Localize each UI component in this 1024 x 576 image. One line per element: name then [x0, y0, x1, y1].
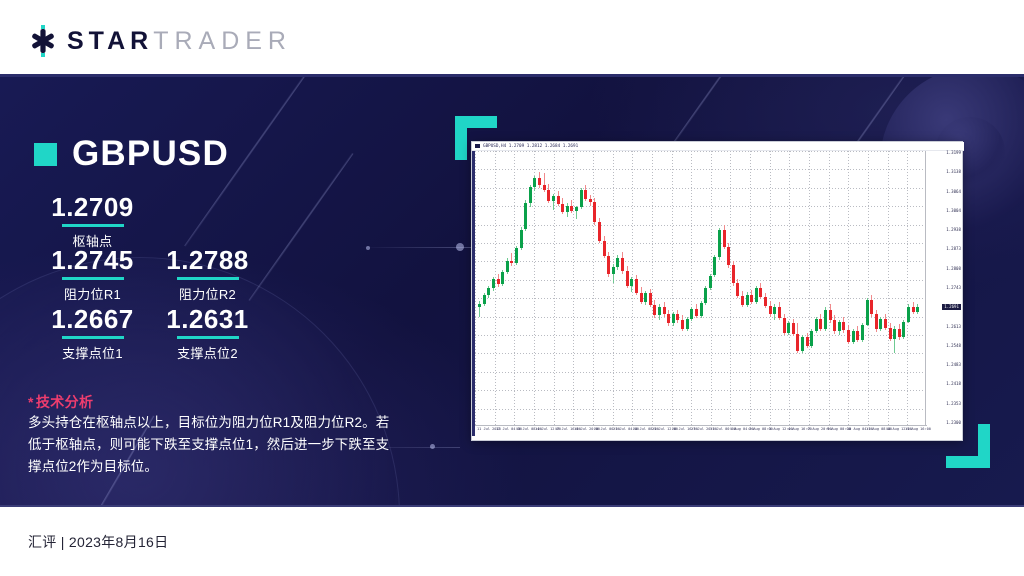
chart-candle-body [543, 185, 546, 190]
chart-candle-body [690, 309, 693, 319]
chart-plot-area[interactable] [475, 151, 927, 427]
chart-candle [907, 151, 910, 427]
chart-y-tick: 1.2548 [946, 344, 961, 348]
level-support2-underline [177, 336, 239, 339]
chart-candle-body [603, 241, 606, 256]
chart-candle [506, 151, 509, 427]
chart-candle-body [515, 248, 518, 263]
chart-candle [492, 151, 495, 427]
chart-candle [829, 151, 832, 427]
chart-candle-body [704, 288, 707, 303]
level-support2: 1.2631 支撑点位2 [140, 306, 275, 362]
chart-y-tick: 1.2938 [946, 228, 961, 232]
chart-candle-body [570, 206, 573, 212]
chart-candle [621, 151, 624, 427]
chart-candle-body [875, 314, 878, 329]
chart-candle [593, 151, 596, 427]
chart-candle-body [501, 272, 504, 284]
level-support1-underline [62, 336, 124, 339]
chart-candle [538, 151, 541, 427]
chart-candle [584, 151, 587, 427]
chart-candle [478, 151, 481, 427]
chart-candle-body [810, 331, 813, 346]
chart-candle-body [492, 279, 495, 289]
chart-candle-body [497, 279, 500, 284]
chart-candle [893, 151, 896, 427]
chart-candle-body [861, 325, 864, 340]
chart-candle [520, 151, 523, 427]
chart-candle-body [658, 307, 661, 316]
chart-candle-body [561, 204, 564, 212]
chart-candle-body [635, 279, 638, 292]
chart-candle-body [727, 247, 730, 265]
chart-candle-body [750, 295, 753, 302]
brand-wordmark: STAR TRADER [67, 27, 292, 56]
chart-y-tick: 1.2300 [946, 421, 961, 425]
chart-candle-body [902, 322, 905, 338]
chart-candle [695, 151, 698, 427]
chart-y-tick: 1.3138 [946, 170, 961, 174]
chart-x-tick: 15 Aug 16:00 [905, 428, 931, 432]
chart-candle [681, 151, 684, 427]
chart-candle-body [538, 178, 541, 185]
level-resistance2-label: 阻力位R2 [140, 284, 275, 303]
chart-candle [547, 151, 550, 427]
page-title: GBPUSD [72, 134, 229, 174]
chart-candle [723, 151, 726, 427]
chart-candle [529, 151, 532, 427]
level-support2-value: 1.2631 [140, 306, 275, 333]
chart-candle-body [769, 306, 772, 315]
chart-candle [746, 151, 749, 427]
chart-candle-body [607, 256, 610, 274]
chart-candle-body [649, 293, 652, 305]
footer-caption: 汇评 | 2023年8月16日 [28, 532, 168, 552]
chart-candle-body [870, 300, 873, 314]
page-header: STAR TRADER [0, 0, 1024, 76]
chart-candle [515, 151, 518, 427]
chart-candle-body [640, 293, 643, 302]
chart-candle [686, 151, 689, 427]
chart-candle-body [879, 319, 882, 329]
chart-candle-body [686, 319, 689, 329]
chart-candle [732, 151, 735, 427]
chart-candle [769, 151, 772, 427]
chart-candle-body [700, 303, 703, 316]
decor-dot-3 [430, 444, 435, 449]
chart-candle [792, 151, 795, 427]
chart-candle-body [824, 310, 827, 329]
analysis-heading: *技术分析 [28, 392, 93, 412]
chart-candle [838, 151, 841, 427]
chart-candle [741, 151, 744, 427]
chart-candle [787, 151, 790, 427]
chart-candle-body [778, 307, 781, 318]
chart-candle [713, 151, 716, 427]
chart-candle-body [663, 307, 666, 314]
chart-candle [801, 151, 804, 427]
chart-candle [852, 151, 855, 427]
chart-candle [635, 151, 638, 427]
chart-candle [575, 151, 578, 427]
chart-candle [842, 151, 845, 427]
chart-candle-body [856, 331, 859, 340]
chart-candle [497, 151, 500, 427]
chart-candle [566, 151, 569, 427]
chart-candle [690, 151, 693, 427]
chart-candle-body [907, 307, 910, 322]
chart-candle-body [621, 258, 624, 271]
chart-candle [607, 151, 610, 427]
chart-candle [589, 151, 592, 427]
chart-candle-wick [511, 253, 512, 265]
chart-candle [875, 151, 878, 427]
chart-candle [824, 151, 827, 427]
chart-candle-body [510, 261, 513, 263]
chart-candle [557, 151, 560, 427]
chart-candle-body [653, 305, 656, 315]
chart-candle-body [755, 288, 758, 302]
chart-candle [764, 151, 767, 427]
chart-candle [630, 151, 633, 427]
chart-candle-body [723, 230, 726, 247]
chart-candle-body [732, 265, 735, 283]
chart-candle [778, 151, 781, 427]
page-footer: 汇评 | 2023年8月16日 [0, 505, 1024, 576]
footer-divider [0, 505, 1024, 507]
chart-candle-body [718, 230, 721, 258]
chart-candle [796, 151, 799, 427]
chart-candle-body [483, 295, 486, 304]
chart-candle-body [529, 187, 532, 203]
chart-candle [750, 151, 753, 427]
chart-candle [884, 151, 887, 427]
chart-candle-body [815, 319, 818, 331]
chart-candle-body [759, 288, 762, 297]
chart-candle [612, 151, 615, 427]
chart-candle-body [833, 320, 836, 331]
chart-candle [861, 151, 864, 427]
chart-candle [524, 151, 527, 427]
chart-candle [533, 151, 536, 427]
chart-candle-body [547, 190, 550, 201]
chart-gridline-v [475, 151, 476, 427]
brand-logo[interactable]: STAR TRADER [28, 25, 292, 57]
chart-candle [879, 151, 882, 427]
chart-candle [603, 151, 606, 427]
chart-candle [819, 151, 822, 427]
chart-y-tick: 1.2808 [946, 267, 961, 271]
chart-candle [598, 151, 601, 427]
chart-candle-body [764, 297, 767, 306]
chart-candle [616, 151, 619, 427]
decor-dot-2 [366, 246, 370, 250]
chart-title: GBPUSD,H4 1.2709 1.2812 1.2684 1.2691 [483, 144, 578, 148]
chart-candle-body [829, 310, 832, 320]
level-support2-label: 支撑点位2 [140, 343, 275, 362]
chart-candle [510, 151, 513, 427]
chart-candle [889, 151, 892, 427]
chart-candle [580, 151, 583, 427]
level-resistance1-underline [62, 277, 124, 280]
chart-candle-body [580, 190, 583, 207]
chart-candle [736, 151, 739, 427]
chart-candle [810, 151, 813, 427]
brand-name-light: TRADER [153, 27, 292, 56]
chart-candle [847, 151, 850, 427]
chart-candle [626, 151, 629, 427]
chart-candle [718, 151, 721, 427]
chart-x-axis: 11 Jul 202312 Jul 04:0013 Jul 08:0014 Ju… [475, 425, 927, 440]
chart-y-tick: 1.2743 [946, 286, 961, 290]
chart-candle-body [796, 334, 799, 351]
chart-candle [552, 151, 555, 427]
chart-candle-body [889, 328, 892, 339]
chart-candle [663, 151, 666, 427]
chart-candle [806, 151, 809, 427]
level-resistance2-underline [177, 277, 239, 280]
chart-candle [644, 151, 647, 427]
analysis-asterisk: * [28, 394, 34, 410]
chart-y-tick: 1.3004 [946, 209, 961, 213]
chart-candle-body [847, 330, 850, 342]
chart-candle-body [787, 323, 790, 332]
chart-candle-body [644, 293, 647, 302]
chart-y-tick: 1.2418 [946, 382, 961, 386]
price-chart[interactable]: GBPUSD,H4 1.2709 1.2812 1.2684 1.2691 1.… [471, 141, 963, 441]
chart-candle [912, 151, 915, 427]
level-resistance2: 1.2788 阻力位R2 [140, 247, 275, 303]
chart-y-tick: 1.2873 [946, 247, 961, 251]
chart-candle-body [616, 258, 619, 267]
chart-candle-body [801, 337, 804, 350]
level-pivot: 1.2709 枢轴点 [25, 194, 160, 250]
chart-candle [561, 151, 564, 427]
chart-candle-body [912, 307, 915, 312]
chart-candle [570, 151, 573, 427]
chart-candle-body [524, 203, 527, 229]
pair-title-row: GBPUSD [34, 134, 229, 174]
chart-candle [653, 151, 656, 427]
title-marker-square [34, 143, 57, 166]
chart-candle-body [792, 323, 795, 333]
chart-candle [815, 151, 818, 427]
chart-y-axis: 1.31991.31381.30641.30041.29381.28731.28… [925, 151, 962, 436]
chart-candle-body [842, 322, 845, 330]
chart-y-tick: 1.3064 [946, 190, 961, 194]
brand-name-bold: STAR [67, 27, 153, 56]
chart-candle-body [593, 202, 596, 222]
chart-candle-body [626, 271, 629, 286]
chart-candle [704, 151, 707, 427]
decor-dot-1 [456, 243, 464, 251]
chart-candle [898, 151, 901, 427]
chart-y-tick: 1.2613 [946, 325, 961, 329]
chart-candle [902, 151, 905, 427]
chart-candle-body [819, 319, 822, 329]
chart-y-tick: 1.2353 [946, 402, 961, 406]
chart-candle [870, 151, 873, 427]
chart-candle-body [533, 178, 536, 187]
chart-candle [916, 151, 919, 427]
chart-candle [866, 151, 869, 427]
chart-candle-body [773, 307, 776, 314]
chart-y-tick: 1.2483 [946, 363, 961, 367]
chart-candle-body [866, 300, 869, 325]
chart-candle [543, 151, 546, 427]
analysis-body: 多头持仓在枢轴点以上，目标位为阻力位R1及阻力位R2。若低于枢轴点，则可能下跌至… [28, 412, 400, 478]
chart-candle [833, 151, 836, 427]
chart-candle [783, 151, 786, 427]
chart-candle-body [630, 279, 633, 286]
chart-candle-body [898, 329, 901, 338]
chart-candle-body [566, 206, 569, 212]
chart-candle [856, 151, 859, 427]
chart-candle-body [806, 337, 809, 346]
chart-candle-body [695, 309, 698, 316]
chart-candle [483, 151, 486, 427]
chart-candle [658, 151, 661, 427]
chart-titlebar: GBPUSD,H4 1.2709 1.2812 1.2684 1.2691 [472, 142, 964, 151]
chart-y-tick: 1.3199 [946, 151, 961, 155]
chart-candle-body [667, 314, 670, 323]
chart-candle [501, 151, 504, 427]
chart-candle-body [506, 261, 509, 273]
chart-candle-body [713, 257, 716, 275]
chart-candle-body [893, 329, 896, 339]
chart-candle-body [598, 222, 601, 240]
chart-candle [667, 151, 670, 427]
chart-candle [487, 151, 490, 427]
chart-candle [759, 151, 762, 427]
analysis-heading-text: 技术分析 [36, 394, 94, 410]
chart-candle-body [552, 196, 555, 200]
chart-candle [727, 151, 730, 427]
chart-candle-body [783, 318, 786, 333]
chart-candle-body [478, 304, 481, 308]
chart-candle-body [589, 199, 592, 201]
level-pivot-value: 1.2709 [25, 194, 160, 221]
chart-current-price-label: 1.2691 [942, 304, 961, 310]
chart-candle-body [838, 322, 841, 331]
chart-candle-body [575, 207, 578, 211]
chart-candle-body [852, 331, 855, 341]
chart-candle [700, 151, 703, 427]
chart-candle-body [676, 314, 679, 320]
chart-candle-body [584, 190, 587, 199]
chart-candle [709, 151, 712, 427]
level-resistance2-value: 1.2788 [140, 247, 275, 274]
chart-candle-body [709, 276, 712, 289]
chart-candle [672, 151, 675, 427]
chart-candle [676, 151, 679, 427]
chart-candle-body [916, 307, 919, 312]
chart-candle-body [557, 196, 560, 203]
chart-symbol-icon [475, 144, 480, 148]
slide-root: STAR TRADER GBPUSD [0, 0, 1024, 576]
chart-candle [649, 151, 652, 427]
level-pivot-underline [62, 224, 124, 227]
chart-candle-body [681, 320, 684, 329]
chart-candle-body [741, 296, 744, 305]
chart-candle-body [884, 319, 887, 328]
chart-candle [755, 151, 758, 427]
chart-candle-body [746, 295, 749, 305]
chart-candle-body [736, 283, 739, 295]
chart-candle [640, 151, 643, 427]
chart-candle [773, 151, 776, 427]
chart-candle-body [672, 314, 675, 323]
chart-candle-body [487, 288, 490, 294]
chart-candle-body [520, 230, 523, 248]
asterisk-star-icon [28, 25, 58, 57]
chart-candle-body [612, 267, 615, 274]
